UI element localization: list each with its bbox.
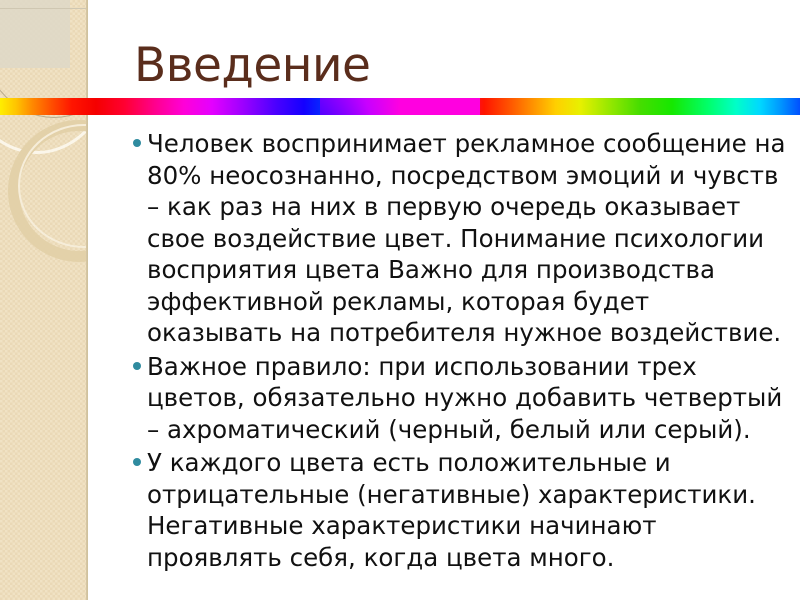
list-item-text: Важное правило: при использовании трех ц…: [147, 351, 791, 446]
list-item: Человек воспринимает рекламное сообщение…: [131, 128, 791, 349]
sidebar-edge-line: [86, 0, 88, 600]
list-item: Важное правило: при использовании трех ц…: [131, 351, 791, 446]
presentation-slide: Введение Человек воспринимает рекламное …: [0, 0, 800, 600]
page-title: Введение: [134, 39, 370, 93]
slide-sidebar-decoration: [0, 0, 88, 600]
slide-body: Человек воспринимает рекламное сообщение…: [131, 128, 791, 575]
bullet-dot-icon: [133, 458, 141, 466]
rainbow-spectrum-bar: [0, 98, 800, 115]
bullet-dot-icon: [133, 139, 141, 147]
rainbow-bar-conic-burst: [320, 98, 480, 115]
list-item-text: У каждого цвета есть положительные и отр…: [147, 447, 791, 573]
list-item-text: Человек воспринимает рекламное сообщение…: [147, 128, 791, 349]
bullet-dot-icon: [133, 362, 141, 370]
list-item: У каждого цвета есть положительные и отр…: [131, 447, 791, 573]
